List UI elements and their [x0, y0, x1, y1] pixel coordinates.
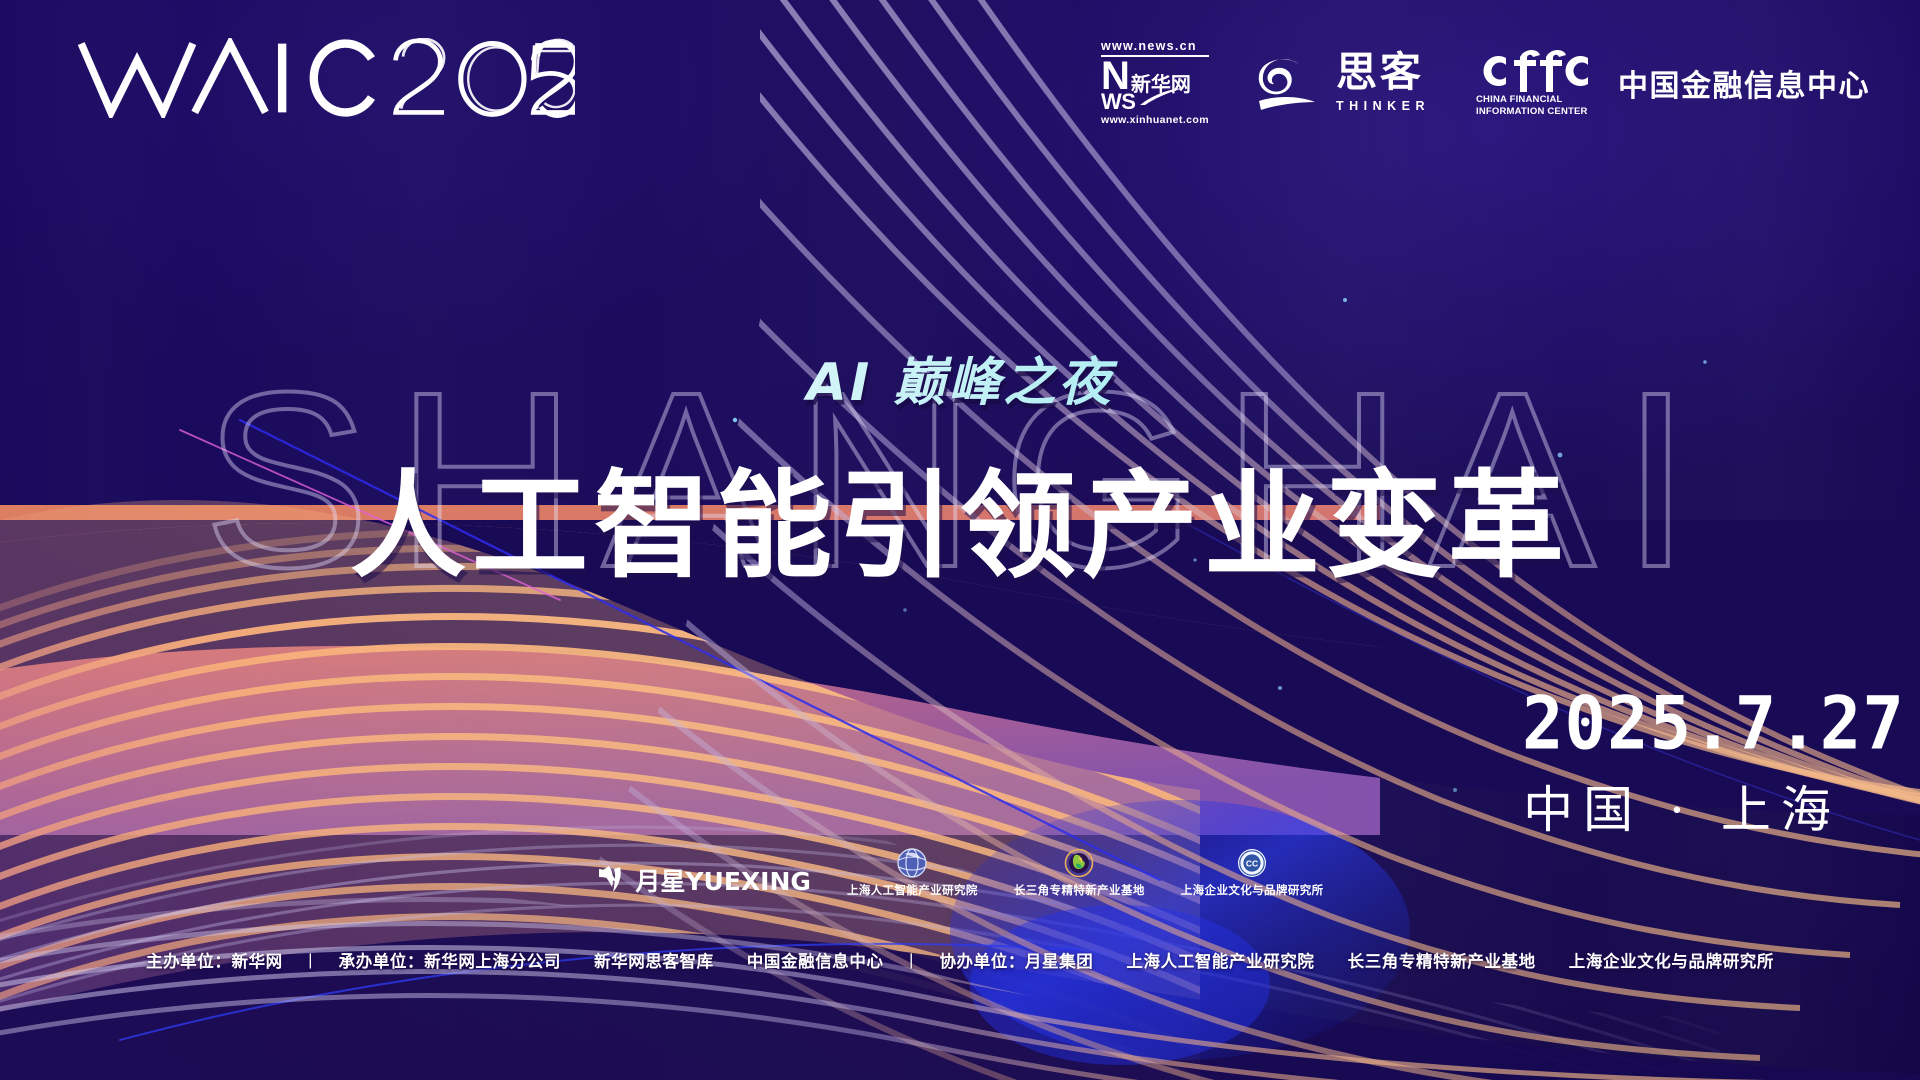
cfic-name-cn: 中国金融信息中心	[1618, 61, 1870, 105]
partner-logo-xinhua: www.news.cn N 新华网 WS www.xinhu	[1101, 40, 1209, 126]
cfic-sub-line1: CHINA FINANCIAL	[1476, 95, 1604, 106]
event-subtitle: AI 巅峰之夜	[0, 340, 1920, 415]
globe-circle-icon	[897, 848, 927, 878]
sponsor-saiir: 上海人工智能产业研究院	[847, 848, 978, 898]
event-headline: 人工智能引领产业变革	[0, 432, 1920, 600]
sponsor-secbri: CC 上海企业文化与品牌研究所	[1181, 848, 1324, 898]
xinhua-swoosh-icon	[1139, 86, 1185, 106]
sponsor-saiir-label: 上海人工智能产业研究院	[847, 882, 978, 898]
credits-separator-2: 丨	[890, 952, 933, 971]
sponsor-yuexing-label: 月星YUEXING	[635, 862, 811, 898]
credits-coorganizer-2: 上海人工智能产业研究院	[1126, 952, 1314, 971]
event-date-block: 2025.7.27 中国 · 上海	[1522, 690, 1842, 835]
credits-line: 主办单位：新华网 丨 承办单位：新华网上海分公司 新华网思客智库 中国金融信息中…	[0, 948, 1920, 972]
partner-logo-thinker: 思客 THINKER	[1255, 52, 1430, 113]
waic-2025-poster: SHANGHAI	[0, 0, 1920, 1080]
sponsor-logo-row: 月星YUEXING 上海人工智能产业研究院 长三角专精特新产业基	[0, 848, 1920, 898]
credits-coorganizer-4: 上海企业文化与品牌研究所	[1569, 952, 1774, 971]
credits-host: 主办单位：新华网	[146, 952, 283, 971]
partner-logo-row: www.news.cn N 新华网 WS www.xinhu	[1101, 40, 1870, 126]
xinhua-letters-ws: WS	[1101, 93, 1135, 112]
credits-separator-1: 丨	[289, 952, 332, 971]
event-location: 中国 · 上海	[1522, 785, 1842, 835]
waic-2025-logo	[60, 38, 575, 118]
xinhua-url-top: www.news.cn	[1101, 40, 1197, 53]
svg-text:CC: CC	[1246, 859, 1258, 869]
thinker-brush-icon	[1255, 54, 1327, 112]
sponsor-secbri-label: 上海企业文化与品牌研究所	[1181, 882, 1324, 898]
cfic-sub-line2: INFORMATION CENTER	[1476, 107, 1604, 118]
thinker-name-en: THINKER	[1336, 99, 1430, 113]
cfic-mark-icon	[1476, 48, 1604, 94]
xinhua-url-bottom: www.xinhuanet.com	[1101, 114, 1209, 126]
sponsor-yuexing: 月星YUEXING	[596, 862, 811, 898]
map-circle-icon	[1064, 848, 1094, 878]
yuexing-star-icon	[596, 865, 630, 895]
blue-seal-circle-icon: CC	[1237, 848, 1267, 878]
credits-coorganizer: 协办单位：月星集团	[939, 952, 1093, 971]
event-date: 2025.7.27	[1522, 688, 1842, 761]
credits-organizer-3: 中国金融信息中心	[747, 952, 884, 971]
poster-header: www.news.cn N 新华网 WS www.xinhu	[0, 0, 1920, 150]
partner-logo-cfic: CHINA FINANCIAL INFORMATION CENTER 中国金融信…	[1476, 48, 1870, 117]
thinker-name-cn: 思客	[1336, 52, 1430, 93]
credits-organizer-2: 新华网思客智库	[594, 952, 714, 971]
sponsor-yrd-base-label: 长三角专精特新产业基地	[1014, 882, 1145, 898]
sponsor-yrd-base: 长三角专精特新产业基地	[1014, 848, 1145, 898]
credits-coorganizer-3: 长三角专精特新产业基地	[1348, 952, 1536, 971]
credits-organizer: 承办单位：新华网上海分公司	[339, 952, 561, 971]
